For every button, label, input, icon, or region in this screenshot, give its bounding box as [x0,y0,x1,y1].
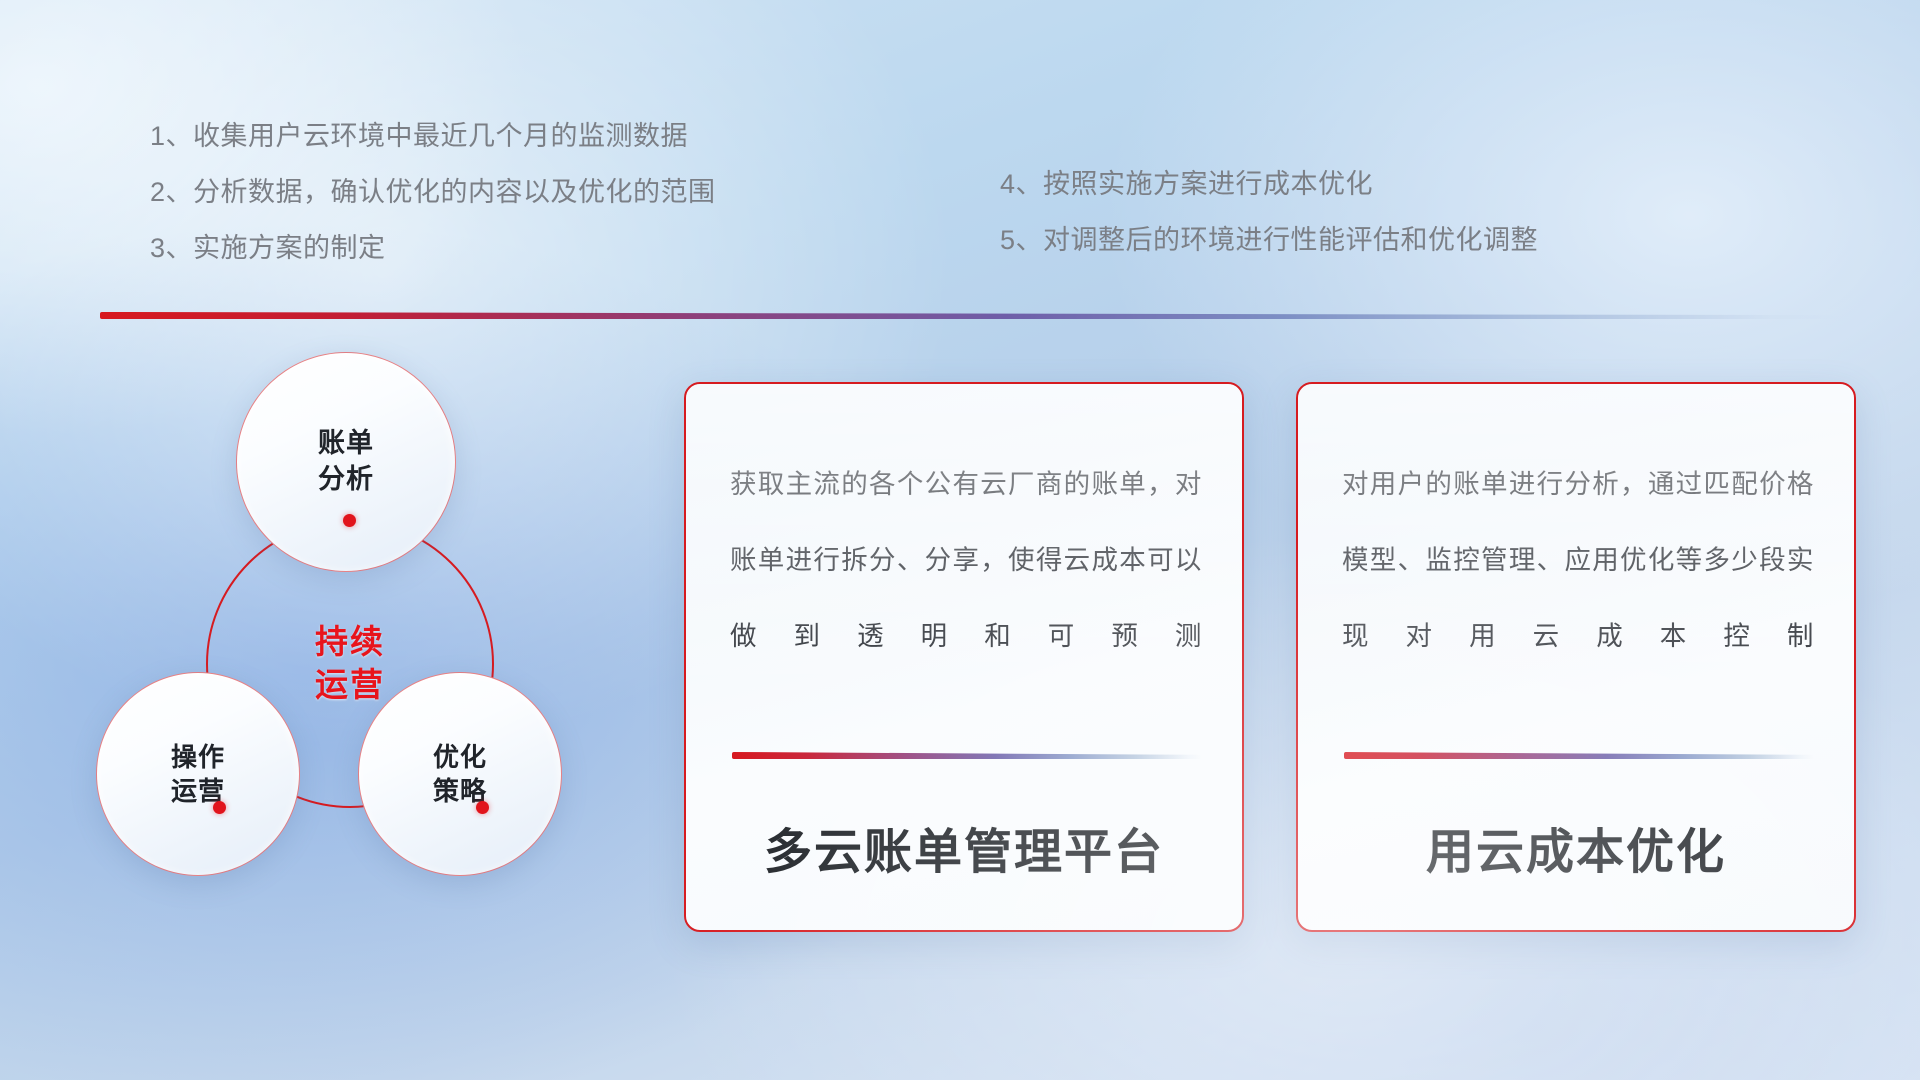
bubble-optimization-strategy[interactable]: 优化 策略 [358,672,562,876]
card-2-body-text: 对用户的账单进行分析，通过匹配价格模型、监控管理、应用优化等多少段实现对用云成本… [1342,446,1814,674]
bubble-operations[interactable]: 操作 运营 [96,672,300,876]
step-item-3: 3、实施方案的制定 [150,220,716,276]
card-1-title: 多云账单管理平台 [686,812,1242,882]
node-dot-right-icon [476,801,489,814]
card-1-body-text: 获取主流的各个公有云厂商的账单，对账单进行拆分、分享，使得云成本可以做到透明和可… [730,446,1202,674]
steps-left-column: 1、收集用户云环境中最近几个月的监测数据 2、分析数据，确认优化的内容以及优化的… [150,108,716,276]
bubble-optimization-strategy-line-1: 优化 [433,740,487,774]
top-divider-bar [100,312,1840,319]
card-multi-cloud-billing[interactable]: 获取主流的各个公有云厂商的账单，对账单进行拆分、分享，使得云成本可以做到透明和可… [684,382,1244,932]
bubble-bill-analysis-line-2: 分析 [318,462,374,498]
bubble-operations-line-1: 操作 [171,740,225,774]
node-dot-top-icon [343,514,356,527]
bubble-bill-analysis-line-1: 账单 [318,426,374,462]
card-2-title: 用云成本优化 [1298,812,1854,882]
step-item-1: 1、收集用户云环境中最近几个月的监测数据 [150,108,716,164]
card-cloud-cost-optimization[interactable]: 对用户的账单进行分析，通过匹配价格模型、监控管理、应用优化等多少段实现对用云成本… [1296,382,1856,932]
slide-canvas: 1、收集用户云环境中最近几个月的监测数据 2、分析数据，确认优化的内容以及优化的… [0,0,1920,1080]
step-item-2: 2、分析数据，确认优化的内容以及优化的范围 [150,164,716,220]
cycle-diagram: 持续 运营 账单 分析 操作 运营 优化 策略 [96,352,636,952]
node-dot-left-icon [213,801,226,814]
step-item-4: 4、按照实施方案进行成本优化 [1000,156,1538,212]
card-2-divider [1344,752,1814,759]
card-1-divider [732,752,1202,759]
bubble-bill-analysis[interactable]: 账单 分析 [236,352,456,572]
steps-right-column: 4、按照实施方案进行成本优化 5、对调整后的环境进行性能评估和优化调整 [1000,156,1538,268]
step-item-5: 5、对调整后的环境进行性能评估和优化调整 [1000,212,1538,268]
